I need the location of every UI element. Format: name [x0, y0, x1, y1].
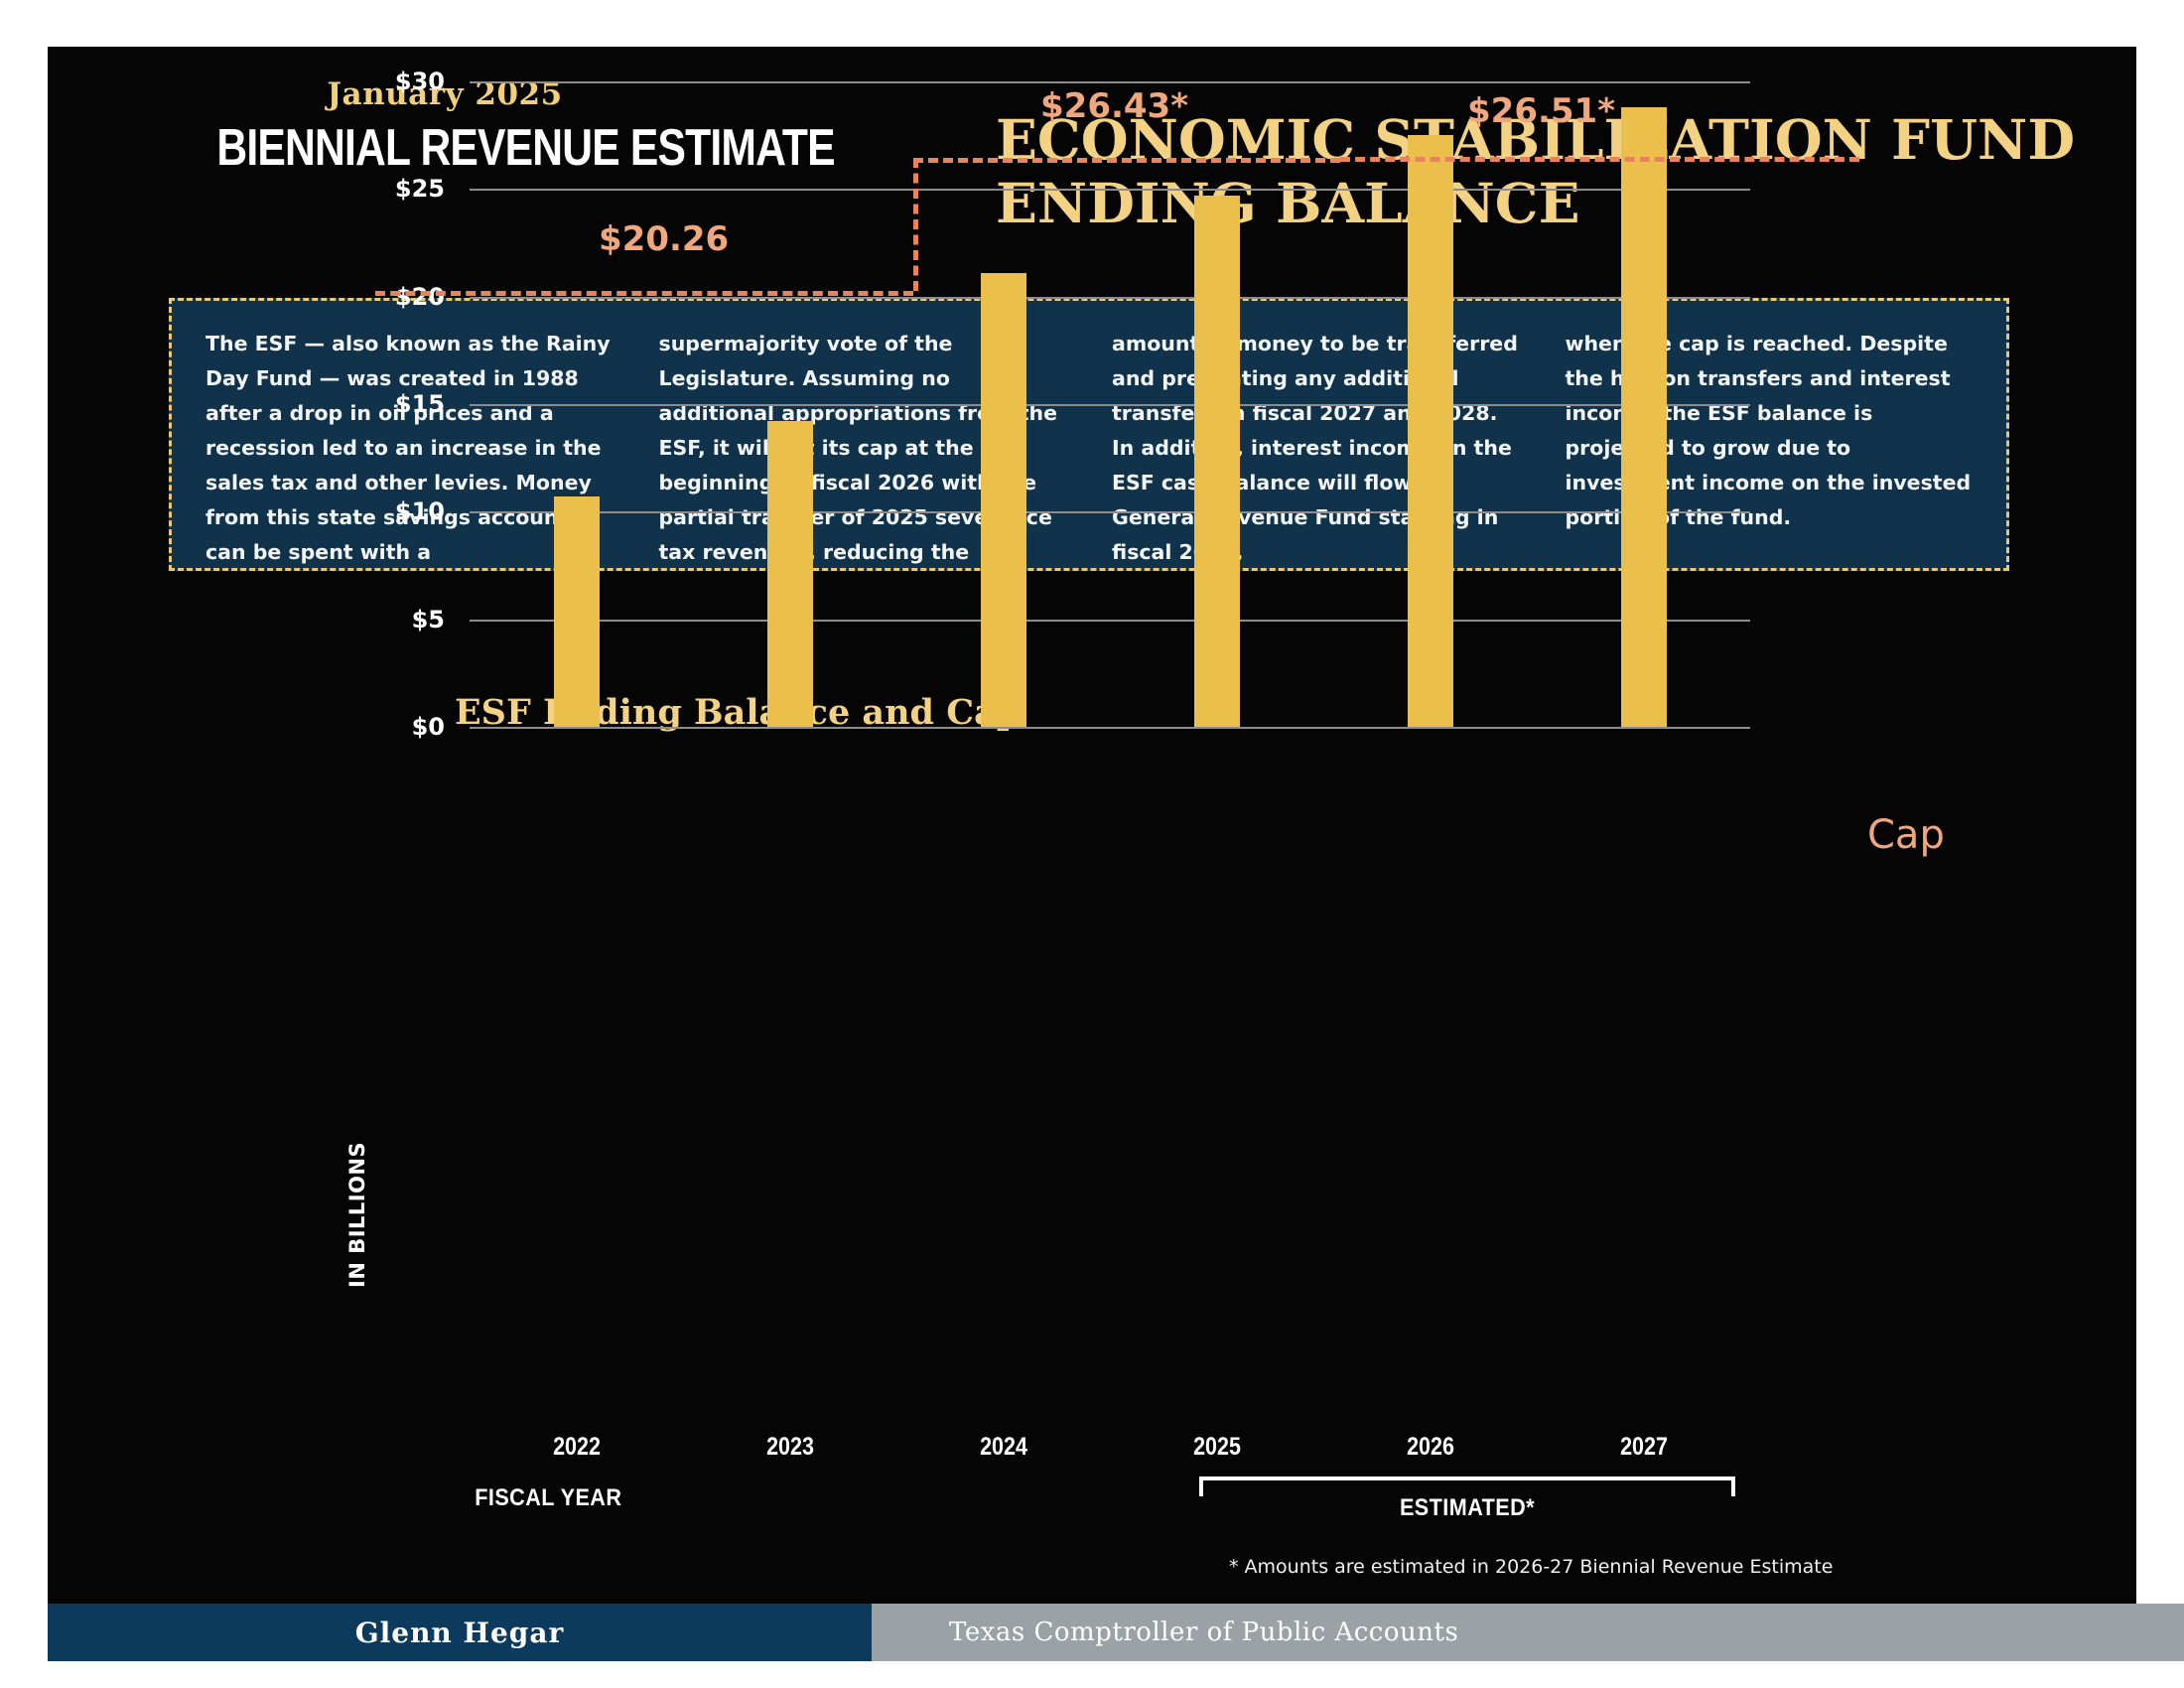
y-axis-tick-label: $15 — [336, 390, 445, 418]
gridline — [470, 297, 1750, 299]
cap-riser — [913, 158, 918, 291]
x-axis-tick-label: 2027 — [1575, 1433, 1712, 1462]
y-axis-tick-label: $30 — [336, 68, 445, 95]
gridline — [470, 404, 1750, 406]
bar-2026 — [1408, 135, 1453, 727]
intro-callout-box: The ESF — also known as the Rainy Day Fu… — [169, 298, 2009, 571]
bar-2024 — [981, 273, 1026, 727]
cap-riser — [1340, 157, 1345, 159]
x-axis-tick-label: 2026 — [1362, 1433, 1499, 1462]
y-axis-label: IN BILLIONS — [345, 1142, 369, 1288]
chart-footnote: * Amounts are estimated in 2026-27 Bienn… — [1229, 1556, 1833, 1578]
footer: Glenn Hegar Texas Comptroller of Public … — [0, 1604, 2184, 1661]
y-axis-tick-label: $0 — [336, 713, 445, 741]
brand-name: BIENNIAL REVENUE ESTIMATE — [216, 118, 672, 178]
cap-legend-label: Cap — [1867, 812, 1945, 858]
intro-column-1: The ESF — also known as the Rainy Day Fu… — [205, 327, 614, 570]
footer-name: Glenn Hegar — [48, 1604, 872, 1661]
x-axis-tick-label: 2025 — [1149, 1433, 1286, 1462]
cap-segment-26.43 — [913, 158, 1340, 163]
gridline — [470, 81, 1750, 83]
intro-columns: The ESF — also known as the Rainy Day Fu… — [205, 327, 1973, 570]
x-axis-label: FISCAL YEAR — [475, 1484, 621, 1512]
footer-office: Texas Comptroller of Public Accounts — [872, 1604, 2184, 1661]
cap-value-label: $20.26 — [599, 219, 729, 259]
x-axis-tick-label: 2024 — [935, 1433, 1072, 1462]
gridline — [470, 189, 1750, 191]
cap-segment-20.26 — [375, 291, 913, 296]
estimated-bracket-label: ESTIMATED* — [1226, 1494, 1708, 1522]
poster-canvas: January 2025 BIENNIAL REVENUE ESTIMATE E… — [48, 47, 2136, 1606]
x-axis-tick-label: 2023 — [722, 1433, 859, 1462]
estimated-bracket — [1199, 1477, 1735, 1496]
cap-value-label: $26.51* — [1467, 91, 1615, 131]
y-axis-tick-label: $25 — [336, 175, 445, 203]
gridline — [470, 511, 1750, 513]
cap-segment-26.51 — [1340, 157, 1859, 162]
intro-column-3: amount of money to be transferred and pr… — [1112, 327, 1520, 570]
brand-block: January 2025 BIENNIAL REVENUE ESTIMATE — [167, 76, 723, 178]
cap-value-label: $26.43* — [1040, 86, 1188, 126]
bar-2025 — [1194, 196, 1240, 727]
y-axis-tick-label: $20 — [336, 283, 445, 311]
page-title-line-2: ENDING BALANCE — [996, 172, 2127, 235]
bar-2022 — [554, 496, 600, 727]
x-axis-tick-label: 2022 — [508, 1433, 645, 1462]
gridline — [470, 727, 1750, 729]
y-axis-tick-label: $10 — [336, 497, 445, 525]
bar-2023 — [767, 421, 813, 727]
gridline — [470, 620, 1750, 622]
y-axis-tick-label: $5 — [336, 606, 445, 633]
bar-2027 — [1621, 107, 1667, 727]
